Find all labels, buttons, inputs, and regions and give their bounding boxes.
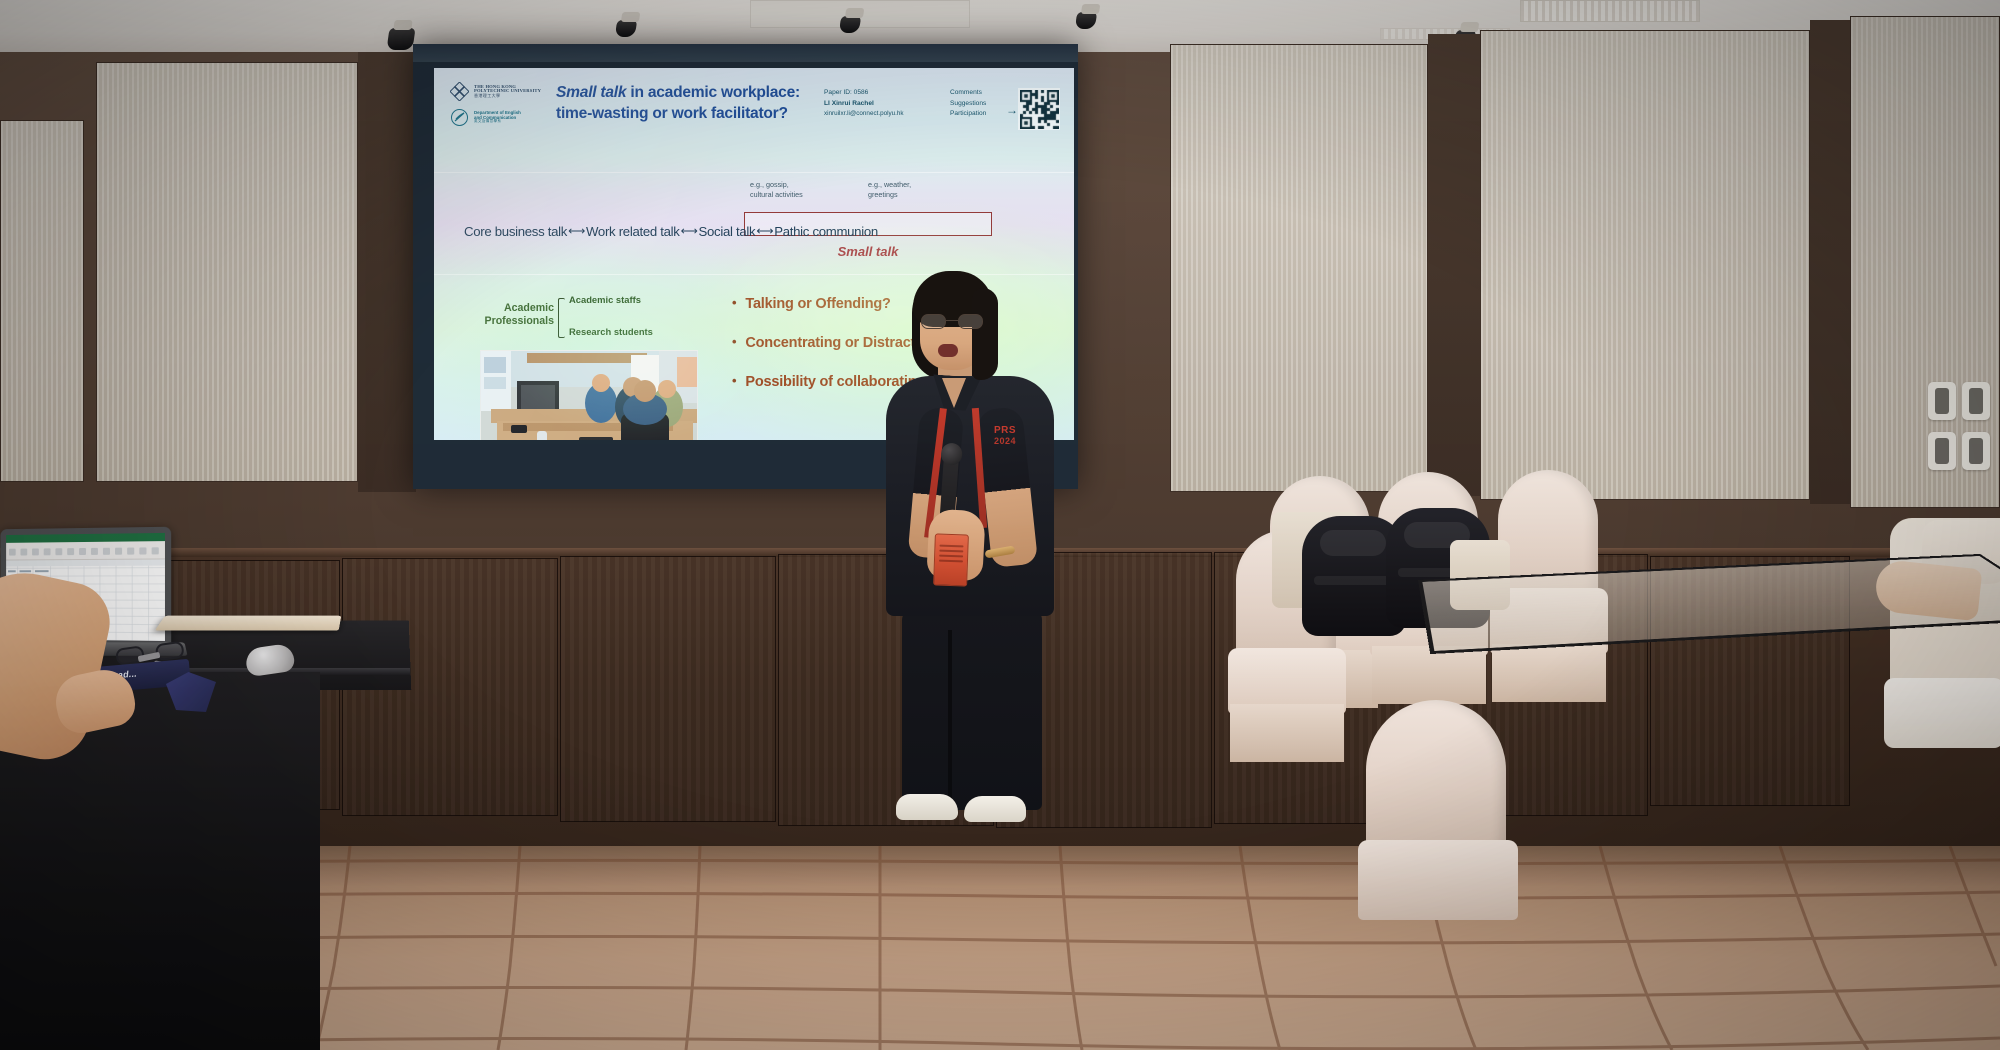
attendee-leg xyxy=(1884,678,2000,748)
badge-text-lines xyxy=(939,545,964,566)
cta-line3: Participation xyxy=(950,109,1012,120)
wall-panel xyxy=(1170,44,1428,492)
chair-back xyxy=(1366,700,1506,850)
cta-text: Comments Suggestions Participation xyxy=(950,88,1012,120)
continuum-item-social-talk: Social talk xyxy=(699,224,756,239)
presenter-legs xyxy=(902,610,1042,810)
double-arrow-icon: ⟷ xyxy=(755,224,774,238)
backpack-strap xyxy=(1314,576,1392,585)
conference-badge xyxy=(933,533,969,586)
wall-panel xyxy=(1480,30,1810,500)
curly-brace-icon xyxy=(558,298,565,338)
bullet-icon: • xyxy=(732,335,736,349)
slide-title-italic: Small talk xyxy=(556,84,626,101)
chair-skirt xyxy=(1230,704,1344,762)
acad-label-line2: Professionals xyxy=(485,315,554,327)
chair-seat xyxy=(1358,840,1518,920)
double-arrow-icon: ⟷ xyxy=(680,224,699,238)
academic-item-staffs: Academic staffs xyxy=(569,294,641,305)
chair-skirt xyxy=(1492,644,1606,702)
projection-screen-top-bar xyxy=(413,44,1078,62)
wall-column xyxy=(1428,34,1480,496)
wall-column xyxy=(358,52,416,492)
double-arrow-icon: ⟷ xyxy=(567,224,586,238)
presenter-shoe-left xyxy=(896,794,958,820)
slide-title: Small talk in academic workplace: time-w… xyxy=(556,83,802,124)
polyu-logo: THE HONG KONG POLYTECHNIC UNIVERSITY 香港理… xyxy=(450,82,548,101)
arrow-right-icon: → xyxy=(1006,104,1018,116)
wall-speaker-icon xyxy=(1928,382,1956,420)
eyeglasses-icon xyxy=(921,314,983,329)
bullet-text-talking: Talking or Offending? xyxy=(745,296,890,312)
department-logo: Department of English and Communication … xyxy=(450,108,548,127)
example-weather-l1: e.g., weather, xyxy=(868,180,911,190)
conference-room-scene: THE HONG KONG POLYTECHNIC UNIVERSITY 香港理… xyxy=(0,0,2000,1050)
example-weather-l2: greetings xyxy=(868,190,911,200)
presenter-mouth xyxy=(938,344,958,357)
wall-speaker-icon xyxy=(1962,432,1990,470)
wall-speaker-icon xyxy=(1962,382,1990,420)
continuum-item-core-business: Core business talk xyxy=(464,224,567,239)
example-gossip-l1: e.g., gossip, xyxy=(750,180,803,190)
polyu-logo-line3: 香港理工大學 xyxy=(474,94,541,98)
ceiling-vent xyxy=(1520,0,1700,22)
presenter-shoe-right xyxy=(964,796,1026,822)
shirt-logo-line2: 2024 xyxy=(984,437,1026,446)
example-weather: e.g., weather, greetings xyxy=(868,180,911,201)
wall-panel xyxy=(96,62,358,482)
continuum-row: Core business talk ⟷ Work related talk ⟷… xyxy=(464,218,1049,244)
bullet-icon: • xyxy=(732,296,736,310)
wall-speaker-icon xyxy=(1928,432,1956,470)
polyu-mark-icon xyxy=(450,82,469,101)
department-logo-line3: 英文及傳意學系 xyxy=(474,120,521,124)
academic-professionals-label: Academic Professionals xyxy=(480,302,554,328)
chair-skirt xyxy=(1372,646,1486,704)
lens-right xyxy=(958,314,983,329)
wall-column xyxy=(1810,20,1850,504)
chair xyxy=(1358,700,1518,940)
presenter-hair-side xyxy=(972,288,998,380)
lens-left xyxy=(921,314,946,329)
spreadsheet-ribbon[interactable] xyxy=(6,541,165,560)
slide-header: THE HONG KONG POLYTECHNIC UNIVERSITY 香港理… xyxy=(434,68,1074,140)
slide-title-line2: time-wasting or work facilitator? xyxy=(556,105,788,122)
wall-panel xyxy=(0,120,84,482)
presenter-leg-split xyxy=(948,630,952,802)
continuum-item-work-related: Work related talk xyxy=(586,224,680,239)
cta-line2: Suggestions xyxy=(950,99,1012,110)
paper-email: xinruilxr.li@connect.polyu.hk xyxy=(824,109,942,119)
institution-logos: THE HONG KONG POLYTECHNIC UNIVERSITY 香港理… xyxy=(450,82,548,134)
paper-id: Paper ID: 0586 xyxy=(824,88,942,99)
paper-meta: Paper ID: 0586 LI Xinrui Rachel xinruilx… xyxy=(824,88,942,120)
wall-device-panel xyxy=(1928,382,1994,474)
paper-author: LI Xinrui Rachel xyxy=(824,99,942,110)
tablet-device[interactable] xyxy=(155,616,342,631)
office-small-talk-photo xyxy=(480,350,698,440)
slide-divider xyxy=(434,172,1074,173)
acad-label-line1: Academic xyxy=(504,302,554,314)
small-talk-label: Small talk xyxy=(744,244,992,259)
department-mark-icon xyxy=(450,108,469,127)
presenter-desk: PolyU Grad... xyxy=(0,620,410,1050)
presenter: PRS 2024 xyxy=(880,258,1060,818)
slide-title-rest: in academic workplace: xyxy=(626,84,800,101)
shirt-logo-line1: PRS xyxy=(984,426,1026,437)
example-gossip-l2: cultural activities xyxy=(750,190,803,200)
continuum-item-pathic-communion: Pathic communion xyxy=(774,224,878,239)
academic-item-students: Research students xyxy=(569,326,653,337)
cta-line1: Comments xyxy=(950,88,1012,99)
bullet-icon: • xyxy=(732,374,736,388)
qr-code-icon xyxy=(1018,88,1060,130)
wood-panel xyxy=(560,556,776,822)
example-gossip: e.g., gossip, cultural activities xyxy=(750,180,803,201)
glasses-bridge xyxy=(946,320,958,321)
shirt-logo: PRS 2024 xyxy=(984,426,1026,446)
